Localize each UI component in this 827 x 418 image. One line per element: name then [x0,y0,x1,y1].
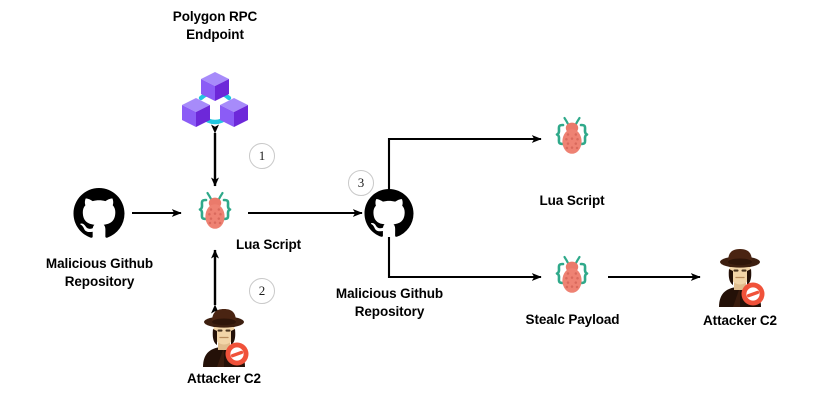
label-malicious-github-repository-left: Malicious Github Repository [22,255,177,291]
label-attacker-c2-center: Attacker C2 [163,370,285,388]
step-circle-2: 2 [249,278,275,304]
github-icon [364,189,414,238]
step-circle-1: 1 [249,143,275,169]
label-malicious-github-repository-center: Malicious Github Repository [312,285,467,321]
bug-icon [547,113,597,163]
hacker-icon [709,245,771,307]
blockchain-icon [181,68,249,132]
edge-github-center-to-stealc-payload [389,237,541,277]
label-stealc-payload: Stealc Payload [505,311,640,329]
github-icon [73,188,125,239]
edge-github-center-to-lua-script-right [389,139,541,190]
hacker-icon [193,305,255,367]
diagram-canvas: Polygon RPC Endpoint [0,0,827,418]
label-polygon-rpc-endpoint: Polygon RPC Endpoint [140,8,290,44]
label-lua-script-center: Lua Script [236,236,336,254]
label-lua-script-right: Lua Script [511,192,633,210]
bug-icon [547,252,597,302]
label-attacker-c2-right: Attacker C2 [679,312,801,330]
bug-icon [190,188,240,238]
